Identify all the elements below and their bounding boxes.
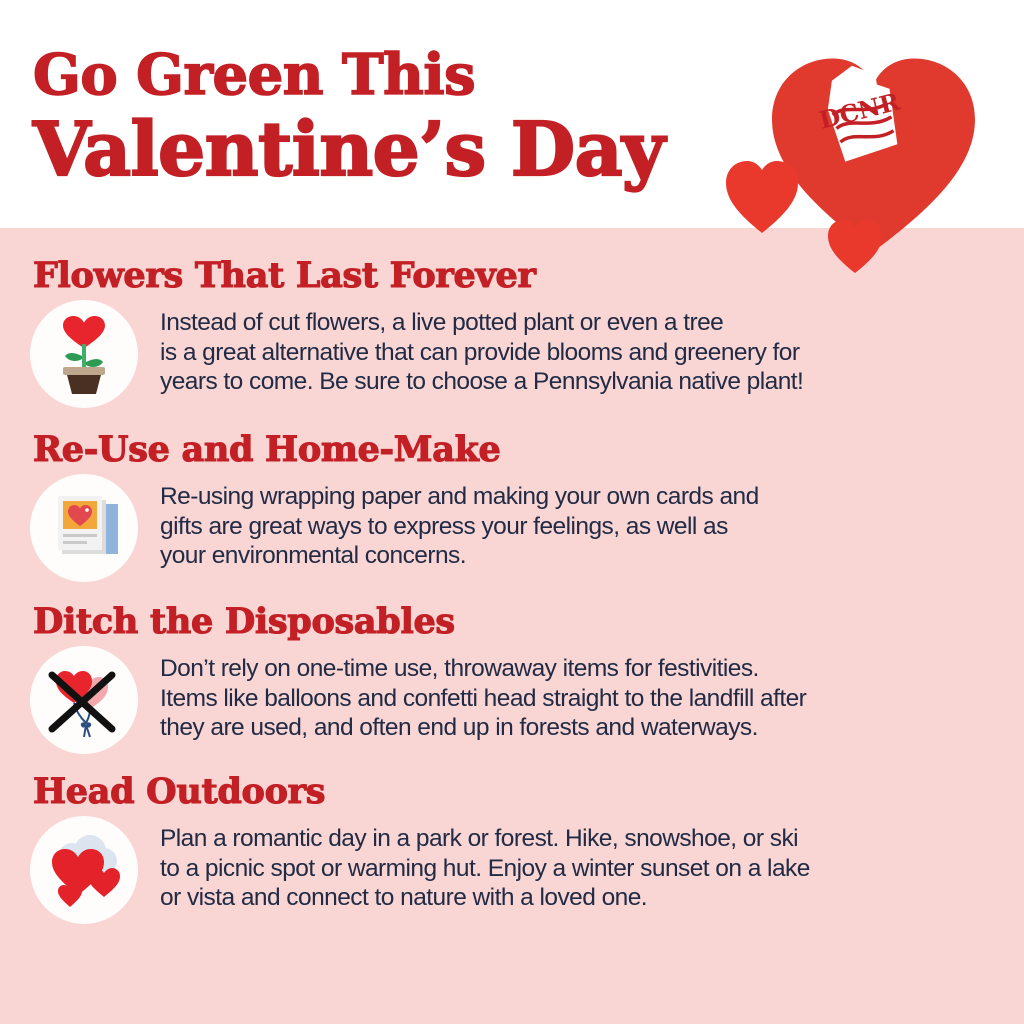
potted-heart-flower-icon: [30, 300, 138, 408]
no-heart-balloons-icon: [30, 646, 138, 754]
body-line: or vista and connect to nature with a lo…: [160, 883, 810, 913]
section-disposables: Ditch the Disposables: [0, 602, 1024, 754]
body-line: to a picnic spot or warming hut. Enjoy a…: [160, 854, 810, 884]
body-line: Re-using wrapping paper and making your …: [160, 482, 759, 512]
section-heading: Flowers That Last Forever: [33, 256, 1024, 296]
crossed-balloons-glyph: [42, 657, 126, 743]
infographic-poster: Go Green This Valentine’s Day DCNR Flowe…: [0, 0, 1024, 1024]
title-line-1: Go Green This: [33, 44, 733, 106]
body-line: they are used, and often end up in fores…: [160, 713, 806, 743]
section-heading: Head Outdoors: [33, 772, 1024, 812]
section-heading: Ditch the Disposables: [33, 602, 1024, 642]
body-line: Don’t rely on one-time use, throwaway it…: [160, 654, 806, 684]
greeting-card-glyph: [44, 490, 124, 566]
body-line: your environmental concerns.: [160, 541, 759, 571]
section-heading: Re-Use and Home-Make: [33, 430, 1024, 470]
body-line: Items like balloons and confetti head st…: [160, 684, 806, 714]
section-body-text: Don’t rely on one-time use, throwaway it…: [160, 654, 806, 743]
heart-greeting-card-icon: [30, 474, 138, 582]
title-line-2: Valentine’s Day: [33, 110, 733, 190]
page-title: Go Green This Valentine’s Day: [33, 44, 733, 190]
sections-list: Flowers That Last Forever Instead of cut…: [0, 232, 1024, 924]
hearts-cloud-glyph: [42, 831, 126, 909]
body-line: is a great alternative that can provide …: [160, 338, 803, 368]
section-body-text: Instead of cut flowers, a live potted pl…: [160, 308, 803, 397]
section-flowers: Flowers That Last Forever Instead of cut…: [0, 256, 1024, 408]
hearts-with-cloud-icon: [30, 816, 138, 924]
body-line: Plan a romantic day in a park or forest.…: [160, 824, 810, 854]
section-body-text: Plan a romantic day in a park or forest.…: [160, 824, 810, 913]
section-reuse: Re-Use and Home-Make Re-using: [0, 430, 1024, 582]
potted-plant-glyph: [46, 312, 122, 396]
body-line: gifts are great ways to express your fee…: [160, 512, 759, 542]
section-body-text: Re-using wrapping paper and making your …: [160, 482, 759, 571]
section-outdoors: Head Outdoors: [0, 772, 1024, 924]
body-line: Instead of cut flowers, a live potted pl…: [160, 308, 803, 338]
body-line: years to come. Be sure to choose a Penns…: [160, 367, 803, 397]
